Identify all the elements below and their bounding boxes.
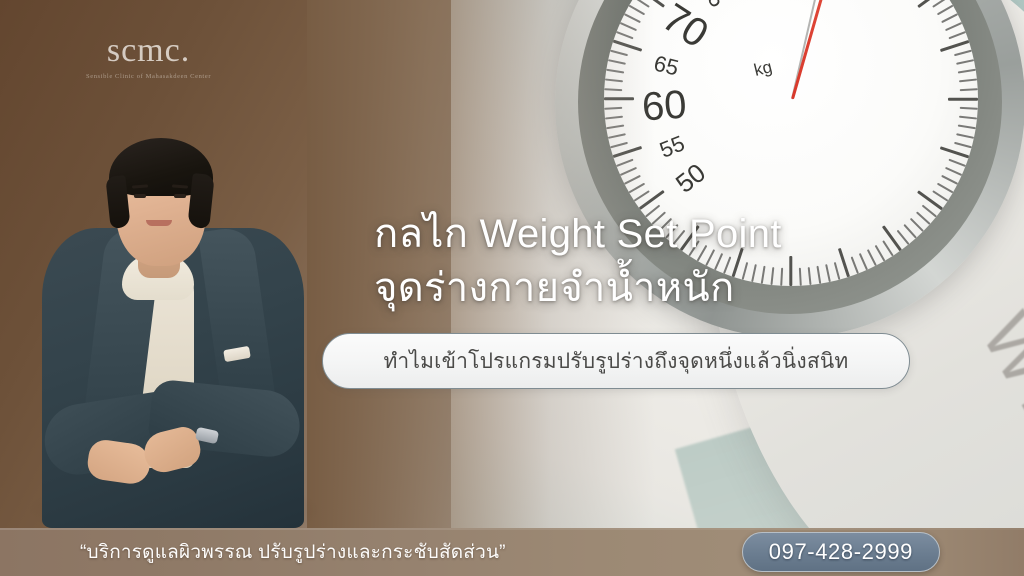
scale-dial-number: 80 xyxy=(724,0,777,2)
scale-tick xyxy=(940,146,970,158)
scale-tick xyxy=(948,159,966,167)
scale-tick xyxy=(948,97,978,100)
scale-tick xyxy=(937,183,954,194)
headline-line-1: กลไก Weight Set Point xyxy=(374,212,782,256)
page-title: กลไก Weight Set Point จุดร่างกายจำน้ำหนั… xyxy=(374,208,974,315)
scale-tick xyxy=(960,107,978,110)
brand-logo[interactable]: scmc. Sensible Clinic of Mahasakdeen Cen… xyxy=(86,34,211,80)
portrait-eye-right xyxy=(174,194,186,198)
headline-line-2: จุดร่างกายจำน้ำหนัก xyxy=(374,262,974,316)
scale-tick xyxy=(945,167,962,176)
scale-tick xyxy=(954,142,972,149)
logo-subtitle: Sensible Clinic of Mahasakdeen Center xyxy=(86,73,211,80)
scale-tick xyxy=(941,175,958,185)
portrait-mouth xyxy=(146,220,172,226)
scale-tick xyxy=(958,124,976,129)
scale-unit-label: kg xyxy=(752,58,774,79)
scale-tick xyxy=(937,5,954,16)
footer-tagline: “บริการดูแลผิวพรรณ ปรับรูปร่างและกระชับส… xyxy=(80,537,506,567)
phone-number: 097-428-2999 xyxy=(769,539,913,564)
scale-tick xyxy=(958,69,976,74)
phone-badge[interactable]: 097-428-2999 xyxy=(742,532,940,572)
scale-tick xyxy=(959,78,977,82)
doctor-portrait xyxy=(18,98,328,528)
scale-tick xyxy=(948,31,966,39)
scale-dial-number: 70 xyxy=(656,0,715,55)
scale-dial-number: 55 xyxy=(656,132,687,162)
scale-tick xyxy=(945,22,962,31)
scale-tick xyxy=(960,88,978,91)
logo-wordmark: scmc. xyxy=(86,34,211,68)
scale-tick xyxy=(959,116,977,120)
subtitle-pill[interactable]: ทำไมเข้าโปรแกรมปรับรูปร่างถึงจุดหนึ่งแล้… xyxy=(322,333,910,389)
scale-tick xyxy=(932,0,948,8)
scale-tick xyxy=(954,50,972,57)
scale-dial-number: 65 xyxy=(652,53,681,80)
footer-bar: “บริการดูแลผิวพรรณ ปรับรูปร่างและกระชับส… xyxy=(0,528,1024,576)
portrait-eye-left xyxy=(134,194,146,198)
scale-dial-number: 50 xyxy=(671,159,710,197)
scale-tick xyxy=(956,133,974,139)
scale-tick xyxy=(956,59,974,65)
poster-canvas: WEIGHT 50556065707580kg scmc. Sensible C… xyxy=(0,0,1024,576)
scale-tick xyxy=(932,190,948,201)
subtitle-pill-label: ทำไมเข้าโปรแกรมปรับรูปร่างถึงจุดหนึ่งแล้… xyxy=(384,345,849,378)
portrait-hair-right xyxy=(187,173,215,229)
scale-tick xyxy=(941,13,958,23)
